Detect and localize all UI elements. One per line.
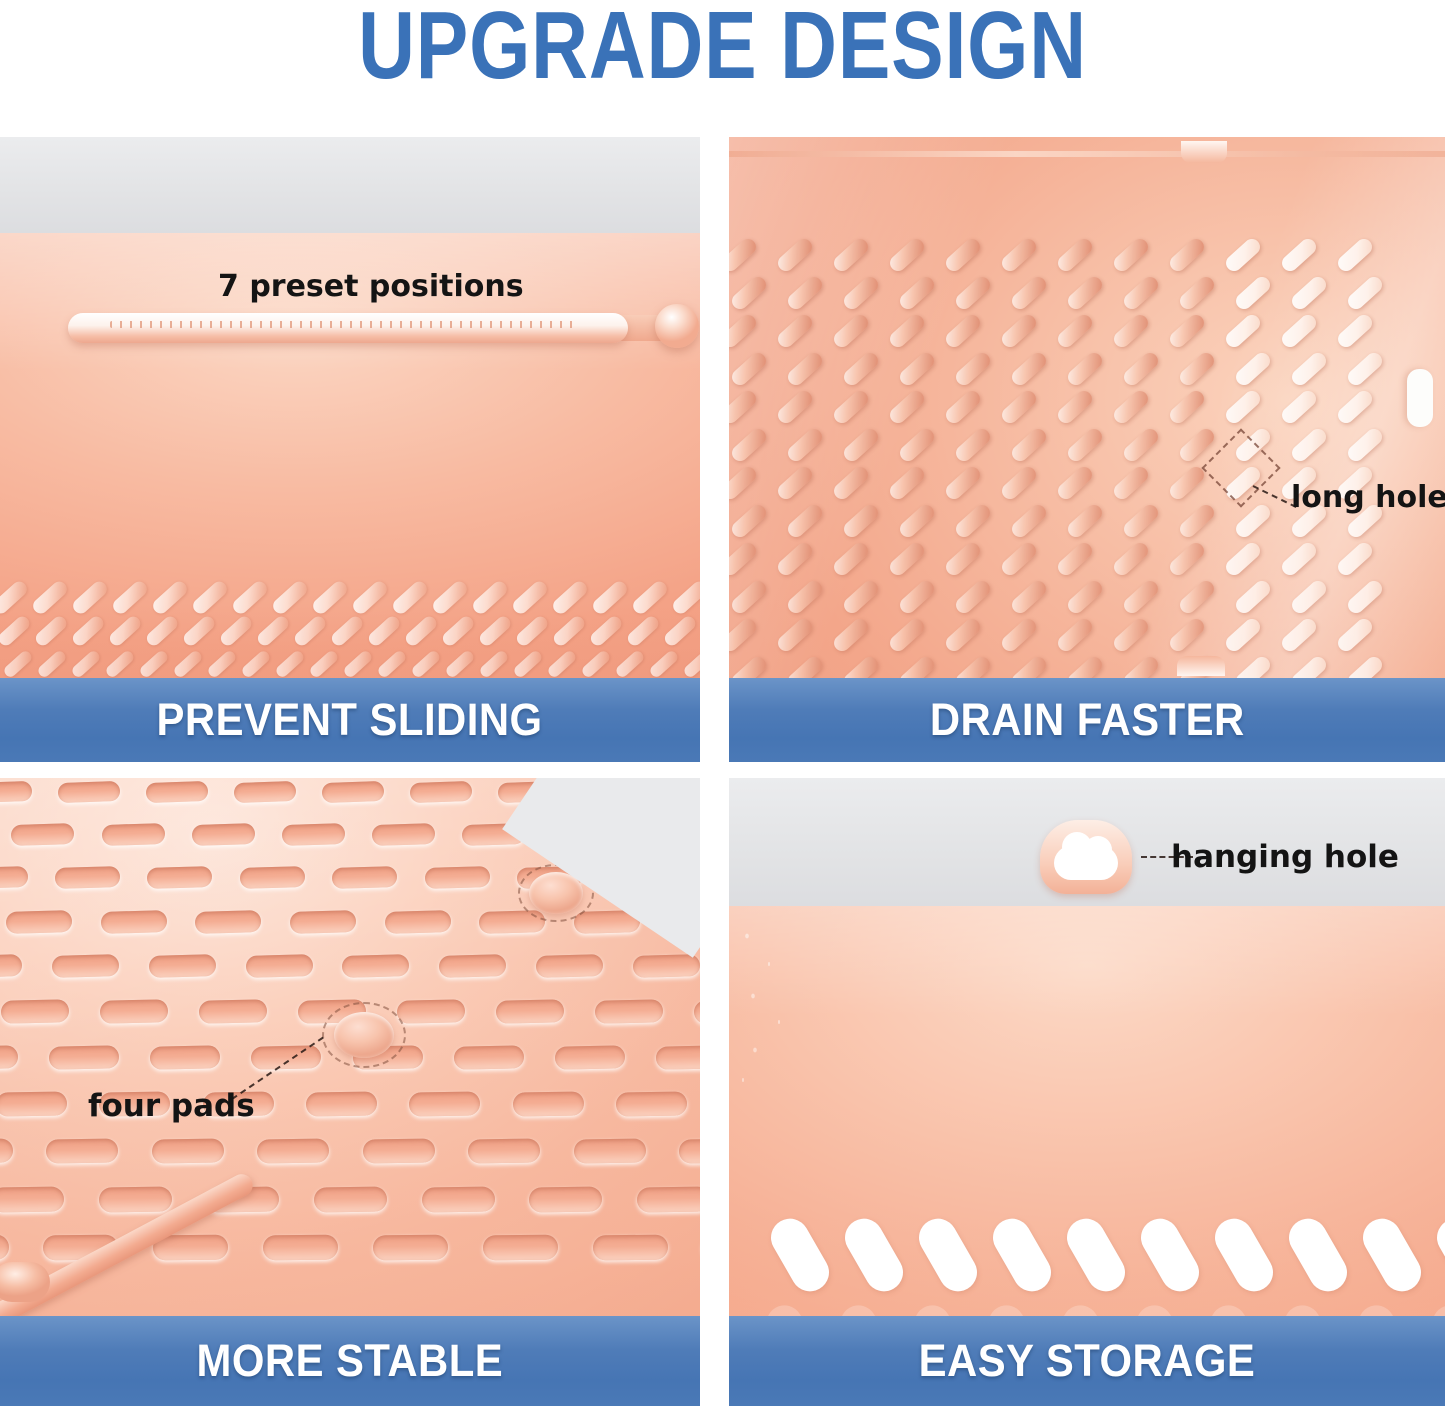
drain-slot	[1121, 426, 1161, 465]
drain-slot	[0, 579, 30, 617]
drain-slot	[52, 954, 120, 978]
drain-slot	[1055, 312, 1095, 351]
drain-slot	[551, 614, 587, 648]
drain-slot	[943, 312, 983, 351]
drain-slot	[648, 649, 680, 679]
drain-slot	[514, 614, 550, 648]
drain-slot	[1177, 502, 1217, 541]
drain-slot	[1177, 578, 1217, 617]
drain-slot	[147, 866, 212, 889]
annotation-four-pads: four pads	[88, 1088, 255, 1124]
drain-slot	[785, 426, 825, 465]
drain-slot	[729, 388, 759, 427]
drain-slot	[2, 649, 34, 679]
drain-slot	[729, 312, 759, 351]
drain-slot	[729, 502, 769, 541]
hinge-tab-top-icon	[1181, 141, 1227, 163]
drain-slot	[453, 1045, 523, 1070]
drain-slot	[292, 614, 328, 648]
panel-more-stable: four pads MORE STABLE	[0, 778, 700, 1406]
drain-slot	[30, 579, 70, 617]
drain-slot	[512, 1092, 583, 1117]
drain-slot	[181, 614, 217, 648]
drain-slot	[1282, 1212, 1354, 1299]
drain-slot	[1065, 274, 1105, 313]
backdrop-gray-band	[0, 137, 700, 233]
drain-slot	[199, 999, 268, 1023]
drain-slot	[191, 823, 255, 846]
drain-slot	[943, 464, 983, 503]
drain-slot	[512, 649, 544, 679]
drain-slot	[329, 614, 365, 648]
drain-slot	[590, 579, 630, 617]
drain-slot	[1177, 350, 1217, 389]
drain-slot	[150, 579, 190, 617]
drain-slot	[1430, 1212, 1445, 1299]
drain-slot	[49, 1045, 119, 1070]
drain-slot	[206, 649, 238, 679]
pad-outline-icon	[322, 1002, 406, 1068]
drain-slot	[1111, 464, 1151, 503]
drain-slot	[897, 502, 937, 541]
drain-slot	[775, 388, 815, 427]
drain-slot	[529, 1186, 603, 1212]
drain-slot	[240, 649, 272, 679]
drain-slot	[468, 1139, 541, 1165]
drain-slot	[240, 866, 305, 889]
drain-slot	[150, 1045, 220, 1070]
drain-slot	[1223, 540, 1263, 579]
drain-slot	[841, 426, 881, 465]
drain-slot	[999, 312, 1039, 351]
drain-slot	[314, 1186, 388, 1212]
drain-slot	[729, 578, 769, 617]
drain-slot	[332, 866, 397, 889]
drain-slot	[1111, 388, 1151, 427]
drain-slot	[775, 312, 815, 351]
drain-slot	[630, 579, 670, 617]
drain-slot	[255, 614, 291, 648]
side-notch-icon	[1407, 369, 1433, 427]
drain-slot	[308, 649, 340, 679]
folding-seam	[729, 151, 1445, 157]
drain-slot	[100, 999, 169, 1023]
drain-slot	[70, 579, 110, 617]
drain-slot	[588, 614, 624, 648]
drain-slot	[838, 1212, 910, 1299]
drain-slot	[670, 579, 700, 617]
drain-slot	[409, 1092, 480, 1117]
drain-slot	[897, 426, 937, 465]
drain-slot	[841, 502, 881, 541]
drain-slot	[342, 649, 374, 679]
panel-label-band-more-stable: MORE STABLE	[0, 1316, 700, 1406]
drain-slot	[785, 274, 825, 313]
hinge-tab-bottom-icon	[1177, 656, 1225, 676]
drain-slot	[632, 954, 700, 978]
drain-slot	[234, 781, 297, 803]
drain-slot	[912, 1212, 984, 1299]
drain-slot	[384, 910, 450, 933]
drain-slot	[775, 540, 815, 579]
hanging-hole-icon	[1040, 820, 1132, 894]
drain-slot	[897, 274, 937, 313]
drain-slot	[0, 781, 32, 803]
drain-slot	[953, 502, 993, 541]
drain-slot	[1055, 388, 1095, 427]
drain-slot	[510, 579, 550, 617]
panel-label-band-drain-faster: DRAIN FASTER	[729, 678, 1445, 762]
drain-slot	[656, 1045, 700, 1070]
drain-slot	[625, 614, 661, 648]
drain-slot	[764, 1212, 836, 1299]
drain-slot	[943, 540, 983, 579]
drain-slot	[1009, 578, 1049, 617]
drain-slot	[831, 388, 871, 427]
drain-slot	[0, 1092, 67, 1117]
cloud-lobe-right	[1084, 836, 1112, 864]
drain-slot	[138, 649, 170, 679]
drain-slot	[1223, 388, 1263, 427]
drain-slot	[679, 1139, 700, 1165]
panel-label-more-stable: MORE STABLE	[197, 1335, 504, 1387]
drain-slot	[841, 350, 881, 389]
drain-slot	[887, 464, 927, 503]
drain-slot	[953, 578, 993, 617]
drain-slot	[0, 866, 28, 889]
drain-slot	[195, 910, 261, 933]
drain-slot	[887, 388, 927, 427]
drain-slot	[1055, 540, 1095, 579]
drain-slot	[887, 616, 927, 655]
drain-slot	[290, 910, 356, 933]
drain-slot	[101, 823, 165, 846]
panel-label-prevent-sliding: PREVENT SLIDING	[157, 694, 543, 746]
drain-slot	[0, 1139, 13, 1165]
drain-slot	[6, 910, 72, 933]
drain-slot	[342, 954, 410, 978]
drain-slot	[775, 616, 815, 655]
drain-slot	[831, 312, 871, 351]
drain-slot	[999, 388, 1039, 427]
drain-slot	[693, 999, 700, 1023]
drain-slot	[144, 614, 180, 648]
rail-knob-icon	[655, 304, 699, 348]
drain-slot	[306, 1092, 377, 1117]
drain-slot	[785, 502, 825, 541]
drain-slot	[1223, 312, 1263, 351]
drain-slot	[376, 649, 408, 679]
drain-slot	[274, 649, 306, 679]
drain-slot	[11, 823, 75, 846]
drain-slot	[172, 649, 204, 679]
drain-slot	[403, 614, 439, 648]
drain-slot	[33, 614, 69, 648]
drain-slot	[887, 540, 927, 579]
panel-label-band-prevent-sliding: PREVENT SLIDING	[0, 678, 700, 762]
drain-slot-grid	[729, 247, 1279, 697]
drain-slot	[1009, 274, 1049, 313]
drain-slot	[1065, 502, 1105, 541]
drain-slot	[1, 999, 70, 1023]
drain-slot	[46, 1139, 119, 1165]
drain-slot	[397, 999, 466, 1023]
drain-slot	[1009, 350, 1049, 389]
drain-slot	[410, 781, 473, 803]
drain-slot	[616, 1092, 687, 1117]
drain-slot	[1223, 616, 1263, 655]
drain-slot	[1233, 502, 1273, 541]
panel-label-easy-storage: EASY STORAGE	[919, 1335, 1256, 1387]
drain-slot	[0, 954, 23, 978]
drain-slot	[444, 649, 476, 679]
drain-slot	[470, 579, 510, 617]
drain-slot	[1060, 1212, 1132, 1299]
drain-slot	[0, 1186, 65, 1212]
drain-slot	[1121, 502, 1161, 541]
drain-slot	[1167, 616, 1207, 655]
drain-slot	[785, 350, 825, 389]
drain-slot	[477, 614, 513, 648]
drain-slot	[483, 1235, 558, 1261]
drain-slot	[245, 954, 313, 978]
drain-slot	[0, 1045, 18, 1070]
drain-slot	[1009, 502, 1049, 541]
drain-slot	[230, 579, 270, 617]
drain-slot	[1167, 540, 1207, 579]
drain-slot	[1055, 616, 1095, 655]
drain-slot	[104, 649, 136, 679]
drain-slot	[372, 823, 436, 846]
drain-slot	[831, 540, 871, 579]
drain-slot	[390, 579, 430, 617]
drain-slot	[546, 649, 578, 679]
drain-slot	[573, 1139, 646, 1165]
drain-slot	[943, 616, 983, 655]
drain-slot	[1009, 426, 1049, 465]
drain-slot	[0, 614, 32, 648]
drain-slot	[263, 1235, 338, 1261]
drain-slot	[887, 312, 927, 351]
drain-slot	[785, 578, 825, 617]
drain-slot	[350, 579, 390, 617]
drain-slot	[149, 954, 217, 978]
drain-slot	[1055, 464, 1095, 503]
drain-slot	[1121, 274, 1161, 313]
panel-prevent-sliding: 7 preset positions PREVENT SLIDING	[0, 137, 700, 762]
drain-slot	[1233, 578, 1273, 617]
drain-slot	[897, 578, 937, 617]
drain-slot	[101, 910, 167, 933]
drain-slot	[953, 274, 993, 313]
drain-slot	[373, 1235, 448, 1261]
drain-slot	[410, 649, 442, 679]
drain-slot	[190, 579, 230, 617]
drain-slot	[146, 781, 209, 803]
drain-slot	[270, 579, 310, 617]
drain-slot	[953, 350, 993, 389]
drain-slot	[1167, 388, 1207, 427]
preset-notches-icon	[110, 321, 580, 328]
drain-slot	[841, 578, 881, 617]
drain-slot	[1177, 274, 1217, 313]
drain-slot	[682, 649, 700, 679]
drain-slot	[1121, 350, 1161, 389]
drain-slot	[218, 614, 254, 648]
drain-slot	[1167, 464, 1207, 503]
panel-label-drain-faster: DRAIN FASTER	[930, 694, 1245, 746]
drain-slot	[107, 614, 143, 648]
drain-slot	[430, 579, 470, 617]
drain-slot	[99, 1186, 173, 1212]
drain-slot	[999, 616, 1039, 655]
drain-slot	[1065, 350, 1105, 389]
drain-slot	[729, 426, 769, 465]
drain-slot	[440, 614, 476, 648]
panel-easy-storage: hanging hole EASY STORAGE	[729, 778, 1445, 1406]
drain-slot	[1111, 312, 1151, 351]
annotation-preset-positions: 7 preset positions	[218, 269, 524, 304]
drain-slot	[424, 866, 489, 889]
drain-slot	[1065, 426, 1105, 465]
drain-slot	[70, 614, 106, 648]
drain-slot	[999, 464, 1039, 503]
drain-slot	[1111, 616, 1151, 655]
drain-slot	[1356, 1212, 1428, 1299]
drain-slot	[1167, 312, 1207, 351]
infographic-root: UPGRADE DESIGN 7 preset positions PREVEN…	[0, 0, 1445, 1406]
drain-slot	[699, 614, 700, 648]
drain-slot	[536, 954, 604, 978]
drain-slot	[1121, 578, 1161, 617]
drain-slot	[729, 350, 769, 389]
drain-slot	[152, 1139, 225, 1165]
drain-slot	[1233, 274, 1273, 313]
drain-slot	[550, 579, 590, 617]
drain-slot	[943, 388, 983, 427]
drain-slot	[729, 464, 759, 503]
drain-slot	[729, 540, 759, 579]
drain-slot	[831, 464, 871, 503]
handle-cap-icon	[0, 1262, 50, 1302]
drain-slot	[439, 954, 507, 978]
drain-slot	[282, 823, 346, 846]
drain-slot	[1208, 1212, 1280, 1299]
drain-slot	[322, 781, 385, 803]
drain-slot	[251, 1045, 321, 1070]
page-title: UPGRADE DESIGN	[130, 0, 1315, 100]
drain-slot	[986, 1212, 1058, 1299]
drain-slot	[1065, 578, 1105, 617]
drain-slot	[614, 649, 646, 679]
drain-slot	[55, 866, 120, 889]
drain-slot	[580, 649, 612, 679]
drain-slot	[729, 616, 759, 655]
drain-slot	[662, 614, 698, 648]
drain-slot	[999, 540, 1039, 579]
annotation-hanging-hole: hanging hole	[1171, 839, 1399, 875]
drain-slot	[729, 274, 769, 313]
annotation-long-hole: long hole	[1291, 480, 1445, 515]
drain-slot	[257, 1139, 330, 1165]
drain-slot	[310, 579, 350, 617]
drain-slot	[478, 649, 510, 679]
drain-slot	[841, 274, 881, 313]
drain-slot	[953, 426, 993, 465]
drain-slot	[421, 1186, 495, 1212]
drain-slot	[594, 999, 663, 1023]
drain-slot	[831, 616, 871, 655]
drain-slot	[36, 649, 68, 679]
drain-slot	[592, 1235, 667, 1261]
panel-label-band-easy-storage: EASY STORAGE	[729, 1316, 1445, 1406]
drain-slot	[897, 350, 937, 389]
drain-slot	[637, 1186, 700, 1212]
drain-slot	[366, 614, 402, 648]
adjustable-rail	[68, 313, 628, 343]
drain-slot	[1111, 540, 1151, 579]
drain-slot	[1233, 350, 1273, 389]
drain-slot	[554, 1045, 624, 1070]
drain-slot	[70, 649, 102, 679]
drain-slot	[775, 464, 815, 503]
drain-slot	[1134, 1212, 1206, 1299]
drain-slot	[496, 999, 565, 1023]
drain-slot	[110, 579, 150, 617]
drain-slot	[363, 1139, 436, 1165]
drain-slot	[58, 781, 121, 803]
panel-drain-faster: long hole DRAIN FASTER	[729, 137, 1445, 762]
